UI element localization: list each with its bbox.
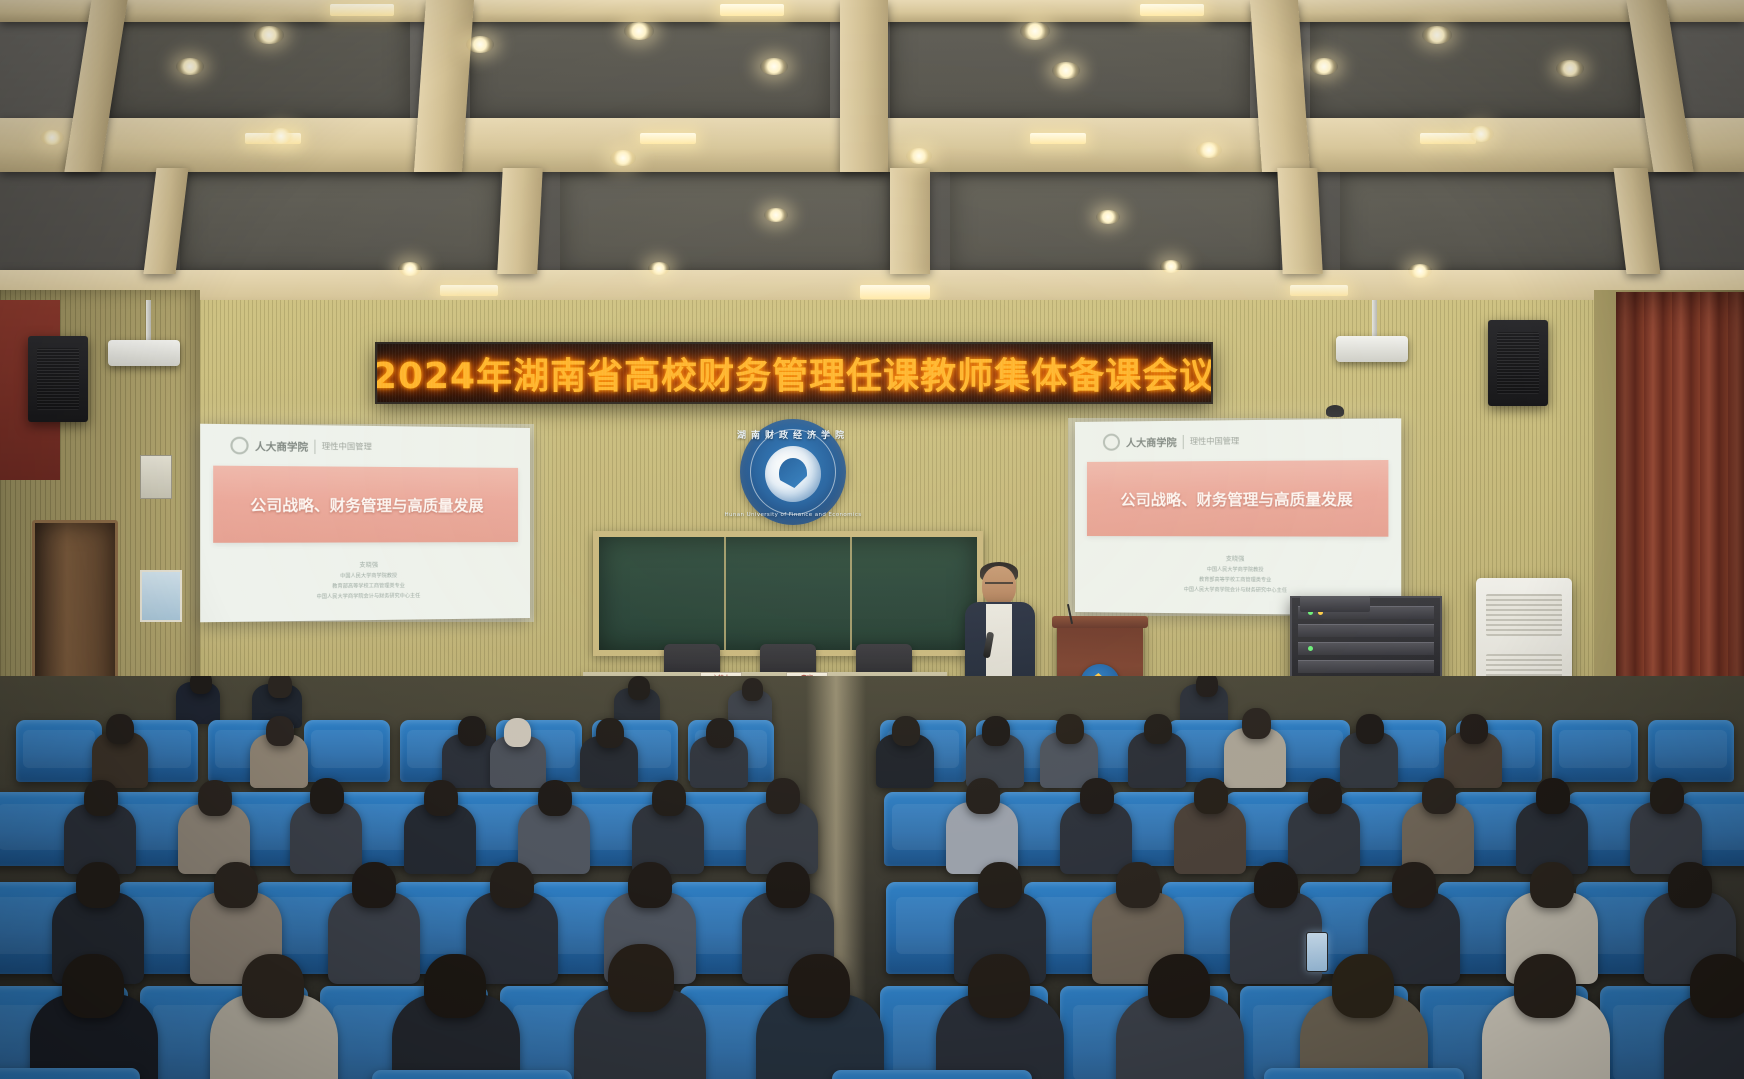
loudspeaker-icon [1488,320,1548,406]
ceiling [0,0,1744,318]
ceiling-panel [1340,170,1630,275]
slide-brand-row: 人大商学院 理性中国管理 [200,424,530,462]
audience-head [1536,778,1570,814]
audience-head [968,954,1030,1018]
downlight [648,262,670,275]
audience-head [198,780,232,816]
downlight [906,148,932,164]
audience-head [504,718,531,747]
slide-title-band: 公司战略、财务管理与高质量发展 [213,466,518,543]
ceiling-beam [1277,168,1323,274]
downlight [176,58,204,75]
emblem-cn-name: 湖南财政经济学院 [712,428,874,441]
presenter-affiliation-1: 中国人民大学商学院教授 [1207,565,1264,572]
downlight [1468,126,1494,142]
downlight [1310,58,1338,75]
projector-icon [108,340,180,366]
podium-top [1052,616,1148,628]
audience-seat [1648,720,1734,782]
slide-brand-row: 人大商学院 理性中国管理 [1075,418,1401,456]
slide-brand-primary: 人大商学院 [255,438,308,454]
audience-head [628,676,650,700]
audience-head [1148,954,1210,1018]
audience-head [1194,778,1228,814]
audience-head [742,678,763,701]
slide-brand-secondary: 理性中国管理 [322,441,372,453]
audience-head [1080,778,1114,814]
rmbs-logo-icon [1103,434,1120,451]
ceiling-panel [560,170,890,275]
audience-head [490,862,534,908]
presenter-name: 支晓强 [359,559,378,568]
ceiling-beam [497,168,543,274]
audience-head [608,944,674,1012]
projection-screen-right: 人大商学院 理性中国管理 公司战略、财务管理与高质量发展 支晓强 中国人民大学商… [1075,418,1401,615]
audience-head [1144,714,1172,744]
divider [314,439,315,453]
downlight [1422,26,1452,44]
downlight [1020,22,1050,40]
downlight [1096,210,1120,224]
slide-presenter-block: 支晓强 中国人民大学商学院教授 教育部高等学校工商管理类专业 中国人民大学商学院… [200,542,530,622]
audience-head [1530,862,1574,908]
presenter-affiliation-2: 教育部高等学校工商管理类专业 [332,581,405,589]
audience-head [1668,862,1712,908]
audience-head [892,716,920,746]
audience-head [1242,708,1271,739]
downlight [1052,62,1080,79]
projector-mount-arm [146,300,151,344]
downlight [764,208,788,222]
foreground-seat [0,1068,140,1079]
slot-light [860,285,930,299]
audience-head [538,780,572,816]
slot-light [330,4,394,16]
rack-console [1300,596,1370,612]
projection-screen-left: 人大商学院 理性中国管理 公司战略、财务管理与高质量发展 支晓强 中国人民大学商… [200,424,530,623]
blackboard [593,531,983,656]
blackboard-pane [599,537,726,650]
presenter-affiliation-2: 教育部高等学校工商管理类专业 [1199,575,1271,583]
slide-title: 公司战略、财务管理与高质量发展 [1120,488,1352,510]
rack-unit [1298,642,1434,655]
blackboard-pane [726,537,853,650]
audience-head [706,718,734,748]
slot-light [440,285,498,296]
audience-head [1422,778,1456,814]
downlight [1556,60,1584,77]
downlight [268,128,294,144]
audience-head [352,862,396,908]
downlight [40,130,64,145]
audience-head [1460,714,1488,744]
audience-head [76,862,120,908]
slide-brand-primary: 人大商学院 [1126,434,1177,450]
audience-head [424,780,458,816]
wall-poster [140,570,182,622]
downlight [1196,142,1222,158]
slot-light [1140,4,1204,16]
foreground-seat [1264,1068,1464,1079]
audience-head [628,862,672,908]
audience-seat [16,720,102,782]
status-led [1308,646,1313,651]
downlight [760,58,788,75]
audience-head [214,862,258,908]
divider [1183,434,1184,448]
audience-head [1116,862,1160,908]
audience-head [84,780,118,816]
audience-head [1254,862,1298,908]
audience-head [458,716,486,746]
led-banner: 2024年湖南省高校财务管理任课教师集体备课会议 [375,342,1213,404]
audience-head [1332,954,1394,1018]
audience-head [1392,862,1436,908]
presenter-name: 支晓强 [1226,553,1245,562]
ceiling-beam [840,0,888,172]
wall-control-panel[interactable] [140,455,172,499]
audience-head [242,954,304,1018]
downlight [254,26,284,44]
projector-icon [1336,336,1408,362]
audience-head [1514,954,1576,1018]
audience-head [1356,714,1384,744]
projector-mount-arm [1372,300,1377,340]
security-camera-icon [1326,405,1344,417]
foreground-seat [372,1070,572,1079]
presenter-affiliation-1: 中国人民大学商学院教授 [340,571,397,579]
emblem-en-name: Hunan University of Finance and Economic… [712,512,874,518]
rack-unit [1298,624,1434,637]
audience-head [978,862,1022,908]
downlight [1408,264,1432,278]
audience-head [966,778,1000,814]
audience-head [766,778,800,814]
lecture-hall-photo: 2024年湖南省高校财务管理任课教师集体备课会议 人大商学院 理性中国管理 公司… [0,0,1744,1079]
downlight [398,262,422,276]
audience-head [1690,954,1744,1018]
foreground-seat [832,1070,1032,1079]
audience-head [1196,676,1218,697]
audience-head [310,778,344,814]
audience-head [1056,714,1084,744]
emblem-core-glyph [765,446,821,502]
downlight [624,22,654,40]
audience-head [266,716,294,746]
smartphone-icon [1306,932,1328,972]
slot-light [1030,133,1086,144]
audience-head [106,714,134,744]
audience-seat [304,720,390,782]
slot-light [1290,285,1348,296]
audience-head [1308,778,1342,814]
presenter-affiliation-3: 中国人民大学商学院会计与财务研究中心主任 [316,592,420,600]
downlight [466,36,494,53]
audience-head [788,954,850,1018]
audience-area [0,676,1744,1079]
led-banner-text: 2024年湖南省高校财务管理任课教师集体备课会议 [375,347,1213,399]
audience-seat [1552,720,1638,782]
downlight [1160,260,1182,273]
university-emblem: 湖南财政经济学院 Hunan University of Finance and… [712,418,874,526]
audience-head [596,718,624,748]
audience-head [1650,778,1684,814]
ac-vent [1486,594,1562,636]
audience-head [62,954,124,1018]
rack-unit [1298,660,1434,673]
downlight [610,150,636,166]
slot-light [640,133,696,144]
audience-head [268,676,292,698]
slide-title-band: 公司战略、财务管理与高质量发展 [1087,460,1388,537]
loudspeaker-icon [28,336,88,422]
audience-head [424,954,486,1018]
slot-light [720,4,784,16]
slide-title: 公司战略、财务管理与高质量发展 [250,493,483,515]
audience-head [766,862,810,908]
presenter-affiliation-3: 中国人民大学商学院会计与财务研究中心主任 [1184,585,1287,593]
audience-head [652,780,686,816]
ceiling-panel [180,170,500,275]
presenter-glasses [985,582,1013,589]
audience-head [982,716,1010,746]
rmbs-logo-icon [230,437,248,455]
slide-brand-secondary: 理性中国管理 [1190,435,1239,447]
audience-head [190,676,212,694]
ceiling-beam [890,168,930,274]
